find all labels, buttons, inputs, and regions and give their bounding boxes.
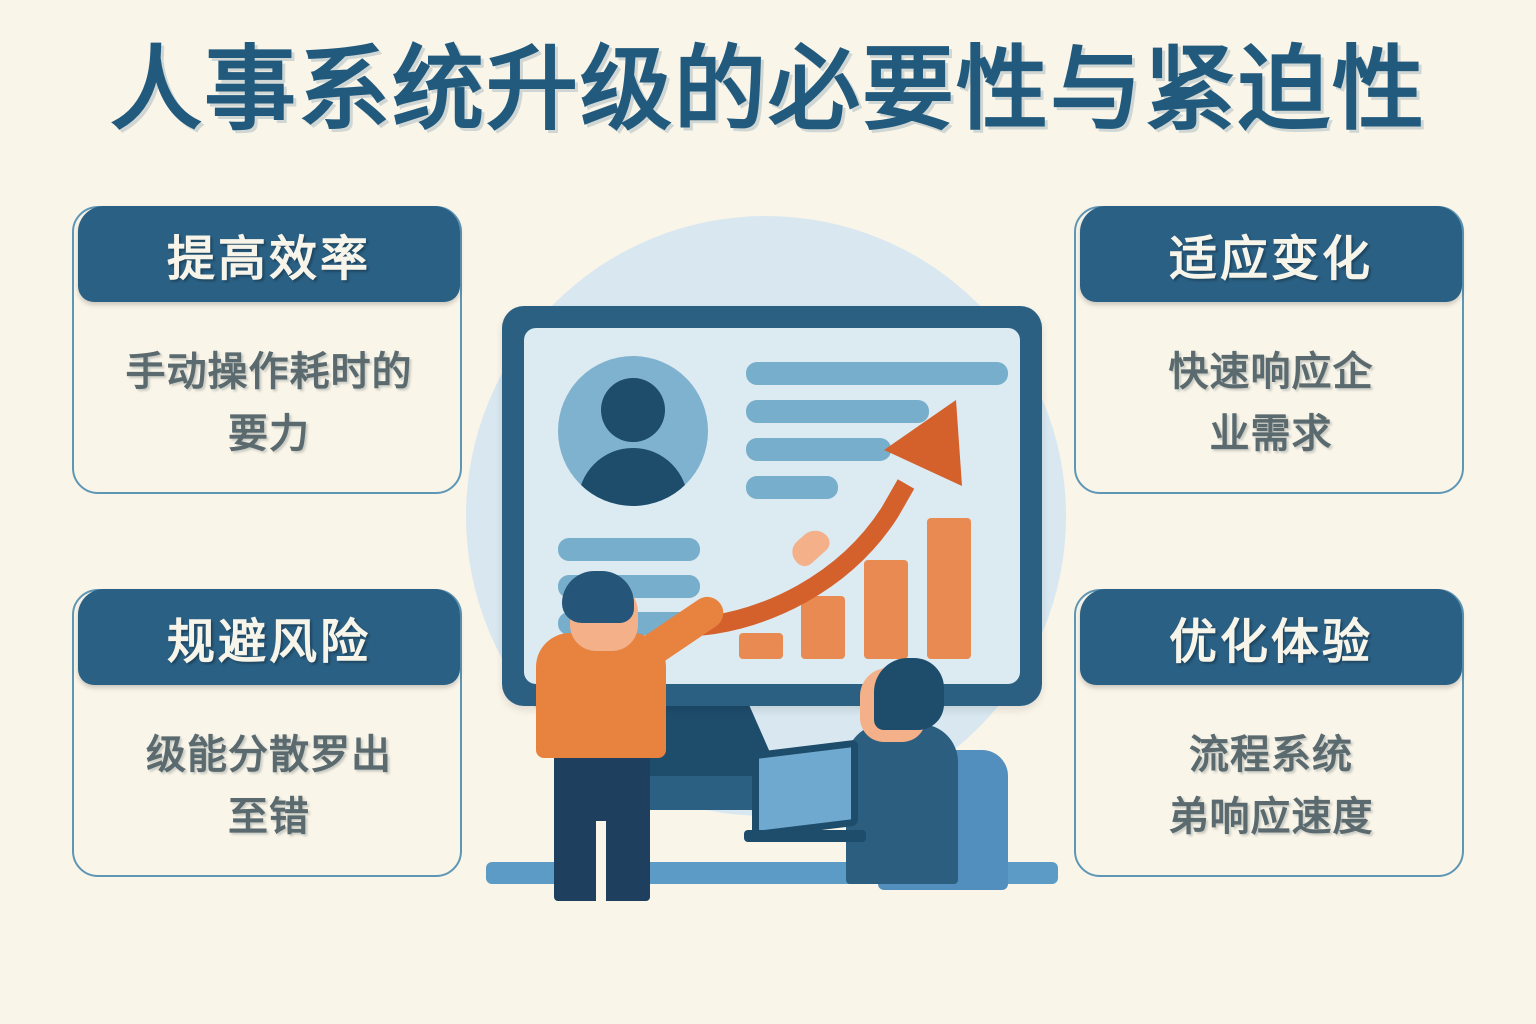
presenter-hair xyxy=(562,571,634,623)
avatar-head-shape xyxy=(601,378,665,442)
seated-laptop-user-figure xyxy=(790,654,1020,894)
page-title: 人事系统升级的必要性与紧迫性 xyxy=(0,42,1536,139)
card-body-line: 流程系统 xyxy=(1189,724,1353,786)
infographic-poster: 人事系统升级的必要性与紧迫性 提高效率 手动操作耗时的 要力 适应变化 快速响应… xyxy=(0,0,1536,1024)
laptop-screen xyxy=(752,739,858,838)
presenter-arm xyxy=(627,591,729,675)
card-body-line: 手动操作耗时的 xyxy=(126,341,413,403)
card-header-label: 提高效率 xyxy=(167,219,371,289)
card-body-bottom-right: 流程系统 弟响应速度 xyxy=(1076,695,1466,877)
card-body-line: 快速响应企 xyxy=(1169,341,1374,403)
card-body-line: 弟响应速度 xyxy=(1169,786,1374,848)
user-avatar-icon xyxy=(558,356,708,506)
text-placeholder-bar xyxy=(558,538,700,561)
standing-presenter-figure xyxy=(528,571,768,901)
seated-user-hair xyxy=(874,658,944,730)
card-body-line: 业需求 xyxy=(1210,403,1333,465)
card-header-label: 规避风险 xyxy=(167,602,371,672)
card-body-bottom-left: 级能分散罗出 至错 xyxy=(74,695,464,877)
card-bottom-left: 规避风险 级能分散罗出 至错 xyxy=(72,589,462,877)
card-bottom-right: 优化体验 流程系统 弟响应速度 xyxy=(1074,589,1464,877)
card-header-label: 优化体验 xyxy=(1169,602,1373,672)
card-body-line: 级能分散罗出 xyxy=(146,724,392,786)
card-body-top-right: 快速响应企 业需求 xyxy=(1076,312,1466,494)
avatar-body-shape xyxy=(578,448,688,506)
card-header-top-left: 提高效率 xyxy=(78,206,460,302)
card-body-top-left: 手动操作耗时的 要力 xyxy=(74,312,464,494)
card-top-left: 提高效率 手动操作耗时的 要力 xyxy=(72,206,462,494)
card-header-bottom-right: 优化体验 xyxy=(1080,589,1462,685)
card-body-line: 要力 xyxy=(228,403,310,465)
card-header-bottom-left: 规避风险 xyxy=(78,589,460,685)
central-illustration xyxy=(418,186,1118,916)
presenter-leg-gap xyxy=(596,821,606,901)
card-top-right: 适应变化 快速响应企 业需求 xyxy=(1074,206,1464,494)
text-placeholder-bar xyxy=(746,362,1008,385)
laptop-base xyxy=(744,830,866,842)
card-body-line: 至错 xyxy=(228,786,310,848)
card-header-top-right: 适应变化 xyxy=(1080,206,1462,302)
card-header-label: 适应变化 xyxy=(1169,219,1373,289)
